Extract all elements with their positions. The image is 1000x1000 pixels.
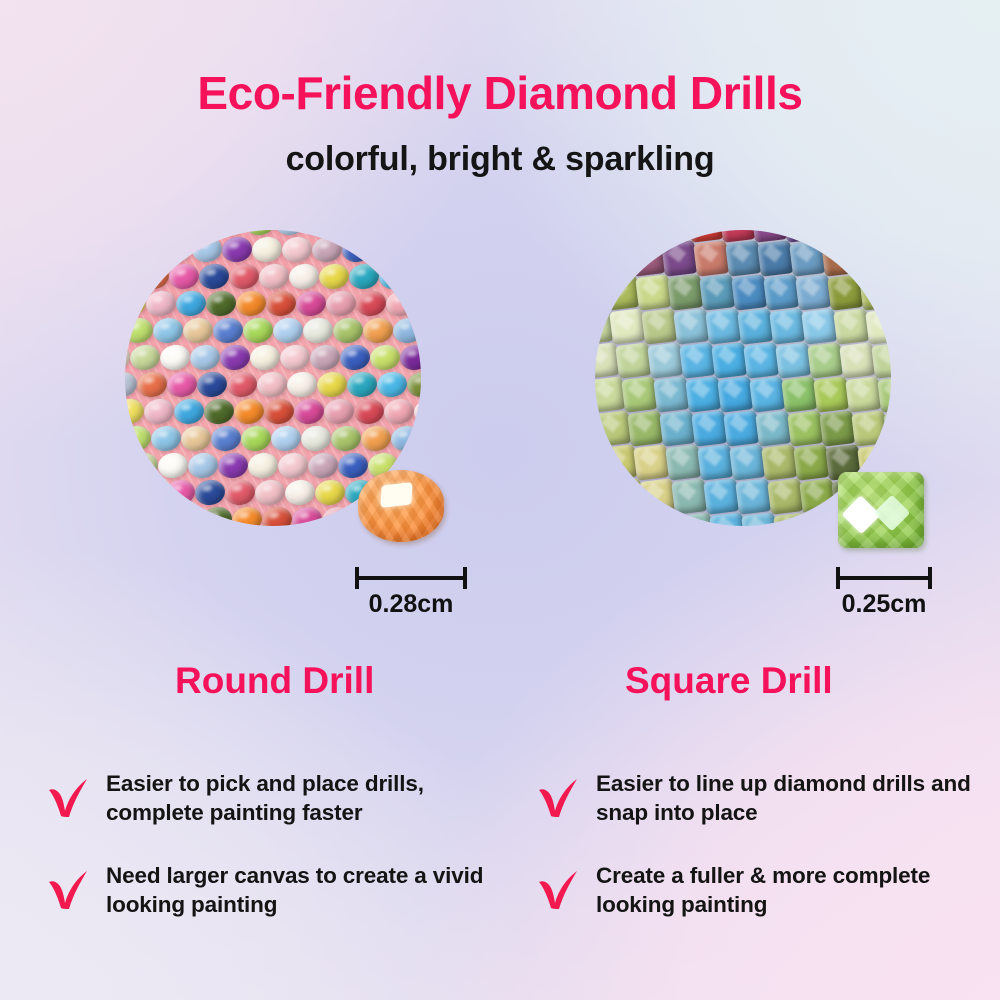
- square-drill-tile: [851, 410, 888, 447]
- ruler-bar: [836, 576, 932, 580]
- square-drill-tile: [597, 240, 634, 277]
- square-drill-tile: [833, 308, 870, 345]
- ruler-cap-right: [928, 567, 932, 589]
- list-item: Easier to line up diamond drills and sna…: [536, 770, 996, 828]
- square-drill-tile: [761, 444, 798, 481]
- square-drill-tile: [819, 410, 856, 447]
- list-item: Create a fuller & more complete looking …: [536, 862, 996, 920]
- ruler-cap-right: [463, 567, 467, 589]
- square-drill-tile: [813, 376, 850, 413]
- square-drill-tile: [859, 274, 891, 311]
- square-drill-tile: [709, 512, 746, 526]
- square-drill-tile: [607, 478, 644, 515]
- square-drill-measurement: 0.25cm: [826, 590, 942, 619]
- round-drill-sample-icon: [358, 470, 444, 542]
- square-drill-tile: [703, 478, 740, 515]
- ruler-cap-left: [836, 567, 840, 589]
- square-drill-tile: [775, 342, 812, 379]
- square-drill-tile: [827, 274, 864, 311]
- list-item: Easier to pick and place drills, complet…: [46, 770, 516, 828]
- list-item-label: Easier to line up diamond drills and sna…: [596, 770, 996, 828]
- square-drill-tile: [795, 274, 832, 311]
- square-drill-tile: [645, 512, 682, 526]
- ruler-bar: [355, 576, 467, 580]
- square-drill-tile: [621, 376, 658, 413]
- square-drill-tile: [805, 512, 842, 526]
- square-drill-tile: [801, 308, 838, 345]
- square-drill-ruler: [836, 567, 932, 589]
- square-drill-tile: [661, 240, 698, 277]
- list-item-label: Need larger canvas to create a vivid loo…: [106, 862, 516, 920]
- square-drill-tile: [647, 342, 684, 379]
- square-drill-tile: [767, 478, 804, 515]
- check-icon: [46, 866, 92, 912]
- square-drill-tile: [613, 512, 650, 526]
- check-icon: [536, 774, 582, 820]
- square-drill-tile: [735, 478, 772, 515]
- square-drill-tile: [723, 410, 760, 447]
- square-drill-tile: [799, 478, 836, 515]
- square-drill-tile: [629, 240, 666, 277]
- page-title: Eco-Friendly Diamond Drills: [0, 66, 1000, 120]
- square-drill-tile: [821, 240, 858, 277]
- square-drill-tile: [641, 308, 678, 345]
- square-drill-tile: [665, 444, 702, 481]
- square-drill-tile: [671, 478, 708, 515]
- square-drill-tile: [787, 410, 824, 447]
- square-drill-tile: [705, 308, 742, 345]
- square-drill-tile: [691, 410, 728, 447]
- square-drill-tile: [789, 240, 826, 277]
- list-item: Need larger canvas to create a vivid loo…: [46, 862, 516, 920]
- square-drill-tile: [731, 274, 768, 311]
- square-drill-tile: [677, 512, 714, 526]
- round-drill-ruler: [355, 567, 467, 589]
- square-drill-tile: [725, 240, 762, 277]
- square-drill-tile: [711, 342, 748, 379]
- square-drill-tile: [769, 308, 806, 345]
- square-drill-tile: [615, 342, 652, 379]
- square-drill-tile: [693, 240, 730, 277]
- square-drill-tile: [737, 308, 774, 345]
- list-item-label: Easier to pick and place drills, complet…: [106, 770, 516, 828]
- square-drill-tile: [839, 342, 876, 379]
- round-sample-highlight: [381, 483, 413, 508]
- square-drill-tile: [653, 376, 690, 413]
- square-drill-tile: [865, 308, 891, 345]
- square-drill-tile: [601, 444, 638, 481]
- square-drill-tile: [773, 512, 810, 526]
- check-icon: [536, 866, 582, 912]
- square-drill-tile: [729, 444, 766, 481]
- square-drill-tile: [717, 376, 754, 413]
- square-drill-tile: [627, 410, 664, 447]
- square-drill-tile: [697, 444, 734, 481]
- square-drill-sample-icon: [838, 472, 924, 548]
- square-drill-tile: [633, 444, 670, 481]
- infographic-page: Eco-Friendly Diamond Drills colorful, br…: [0, 0, 1000, 1000]
- square-drill-tile: [743, 342, 780, 379]
- round-drill-heading: Round Drill: [175, 660, 374, 702]
- square-drill-tile: [749, 376, 786, 413]
- square-drill-heading: Square Drill: [625, 660, 833, 702]
- square-drill-tile: [639, 478, 676, 515]
- square-drill-tile: [871, 342, 891, 379]
- square-drill-tile: [845, 376, 882, 413]
- square-drill-tile: [685, 376, 722, 413]
- square-drill-tile: [673, 308, 710, 345]
- square-drill-tile: [853, 240, 890, 277]
- square-drill-tile: [781, 376, 818, 413]
- round-sample-facets: [358, 470, 444, 542]
- page-subtitle: colorful, bright & sparkling: [0, 140, 1000, 179]
- square-drill-tile: [757, 240, 794, 277]
- square-drill-tile: [659, 410, 696, 447]
- square-drill-tile: [763, 274, 800, 311]
- square-drill-tile: [679, 342, 716, 379]
- square-drill-tile: [603, 274, 640, 311]
- square-drill-tile: [595, 410, 632, 447]
- square-drill-tile: [755, 410, 792, 447]
- list-item-label: Create a fuller & more complete looking …: [596, 862, 996, 920]
- square-drill-tile: [741, 512, 778, 526]
- ruler-cap-left: [355, 567, 359, 589]
- check-icon: [46, 774, 92, 820]
- round-drill-measurement: 0.28cm: [355, 590, 467, 619]
- square-drill-tile: [635, 274, 672, 311]
- square-drill-tile: [807, 342, 844, 379]
- square-drill-tile: [667, 274, 704, 311]
- square-drill-tile: [699, 274, 736, 311]
- square-drill-tile: [793, 444, 830, 481]
- square-drill-tile: [609, 308, 646, 345]
